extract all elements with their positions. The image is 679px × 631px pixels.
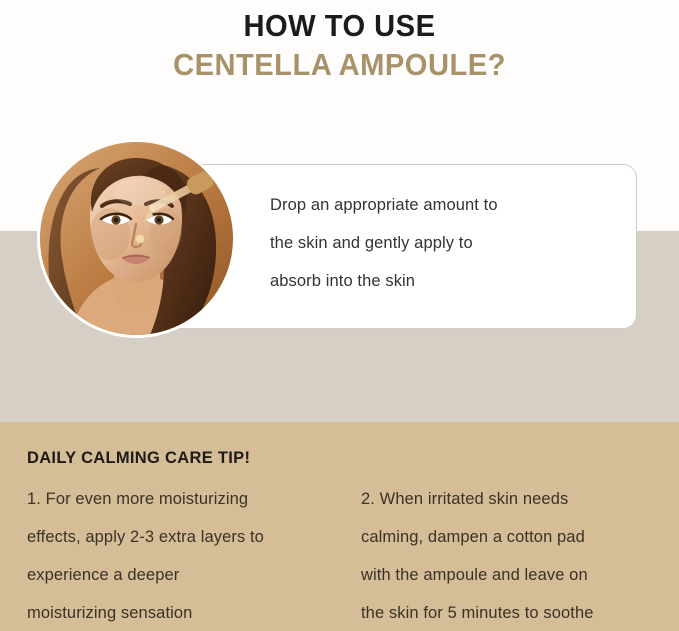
- tip-line: moisturizing sensation: [27, 594, 333, 631]
- instruction-line: absorb into the skin: [270, 262, 620, 300]
- tip-line: experience a deeper: [27, 556, 333, 594]
- instruction-line: the skin and gently apply to: [270, 224, 620, 262]
- how-to-use-poster: HOW TO USE CENTELLA AMPOULE? Drop an app…: [0, 0, 679, 631]
- tip-line: 1. For even more moisturizing: [27, 480, 333, 518]
- portrait-dropper-photo-icon: [40, 142, 233, 335]
- instruction-line: Drop an appropriate amount to: [270, 186, 620, 224]
- tips-title: DAILY CALMING CARE TIP!: [27, 449, 250, 468]
- page-title-line-1: HOW TO USE: [20, 6, 658, 45]
- tip-line: calming, dampen a cotton pad: [361, 518, 667, 556]
- tip-line: 2. When irritated skin needs: [361, 480, 667, 518]
- tip-item-2: 2. When irritated skin needs calming, da…: [361, 480, 667, 631]
- page-title-line-2: CENTELLA AMPOULE?: [20, 45, 658, 84]
- page-title: HOW TO USE CENTELLA AMPOULE?: [0, 0, 679, 84]
- daily-tips-section: DAILY CALMING CARE TIP! 1. For even more…: [0, 422, 679, 631]
- model-photo-circle: [40, 142, 233, 335]
- tip-line: the skin for 5 minutes to soothe: [361, 594, 667, 631]
- tip-item-1: 1. For even more moisturizing effects, a…: [27, 480, 333, 631]
- tip-line: with the ampoule and leave on: [361, 556, 667, 594]
- tips-columns: 1. For even more moisturizing effects, a…: [27, 480, 667, 631]
- instruction-card-text: Drop an appropriate amount to the skin a…: [270, 186, 620, 300]
- tip-line: effects, apply 2-3 extra layers to: [27, 518, 333, 556]
